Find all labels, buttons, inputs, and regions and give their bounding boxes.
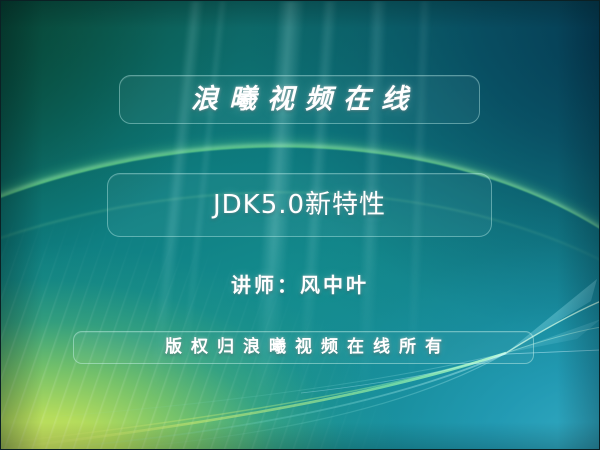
copyright-panel: 版权归浪曦视频在线所有	[73, 331, 534, 364]
copyright-notice: 版权归浪曦视频在线所有	[156, 339, 451, 356]
presenter-name: 讲师：风中叶	[231, 273, 369, 297]
slide-content: 浪曦视频在线 JDK5.0新特性 讲师：风中叶 版权归浪曦视频在线所有	[1, 1, 599, 449]
course-subtitle: JDK5.0新特性	[213, 192, 386, 218]
title-panel: 浪曦视频在线	[119, 75, 480, 124]
subtitle-panel: JDK5.0新特性	[107, 173, 492, 237]
presenter-line: 讲师：风中叶	[1, 269, 599, 298]
page-title: 浪曦视频在线	[180, 86, 419, 113]
title-slide: 浪曦视频在线 JDK5.0新特性 讲师：风中叶 版权归浪曦视频在线所有	[0, 0, 600, 450]
